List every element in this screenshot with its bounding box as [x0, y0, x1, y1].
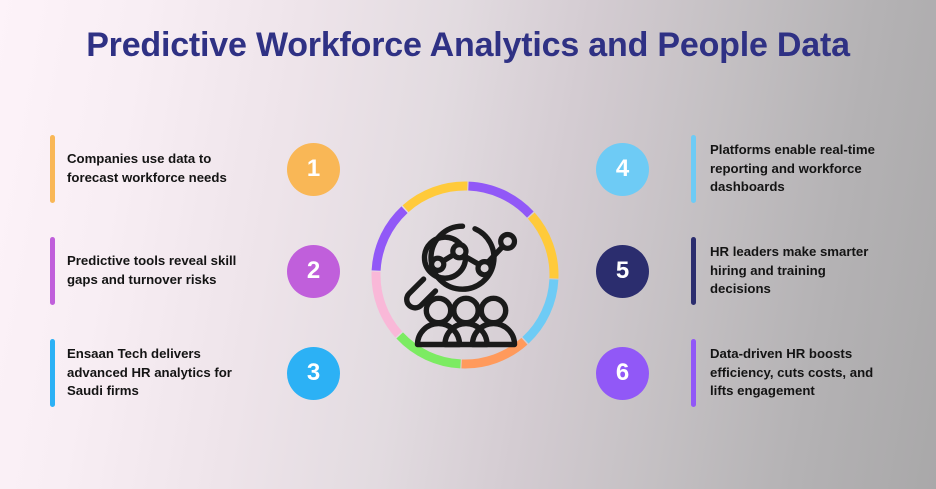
accent-bar-4	[691, 135, 696, 203]
list-item-label-1: Companies use data to forecast workforce…	[67, 150, 237, 187]
people-group-icon	[418, 298, 515, 344]
accent-bar-2	[50, 237, 55, 305]
number-badge-2[interactable]: 2	[287, 245, 340, 298]
right-items-column: 4 Platforms enable real-time reporting a…	[596, 130, 886, 412]
list-item-label-6: Data-driven HR boosts efficiency, cuts c…	[710, 345, 882, 401]
list-item-1[interactable]: Companies use data to forecast workforce…	[50, 130, 340, 208]
number-badge-5[interactable]: 5	[596, 245, 649, 298]
number-badge-3[interactable]: 3	[287, 347, 340, 400]
ring-segment-bottom-left	[399, 335, 462, 363]
analytics-ring-illustration	[367, 177, 563, 373]
left-items-column: Companies use data to forecast workforce…	[50, 130, 340, 412]
number-badge-6[interactable]: 6	[596, 347, 649, 400]
list-item-3[interactable]: Ensaan Tech delivers advanced HR analyti…	[50, 334, 340, 412]
person-body-right	[473, 324, 515, 345]
list-item-label-2: Predictive tools reveal skill gaps and t…	[67, 252, 237, 289]
number-badge-4[interactable]: 4	[596, 143, 649, 196]
accent-bar-5	[691, 237, 696, 305]
number-badge-1[interactable]: 1	[287, 143, 340, 196]
person-head-middle	[454, 298, 478, 322]
list-item-5[interactable]: 5 HR leaders make smarter hiring and tra…	[596, 232, 886, 310]
page-header: Predictive Workforce Analytics and Peopl…	[0, 26, 936, 65]
list-item-4[interactable]: 4 Platforms enable real-time reporting a…	[596, 130, 886, 208]
ring-segment-left-lower	[374, 272, 401, 335]
person-head-right	[481, 298, 505, 322]
ring-segment-right-upper	[529, 216, 556, 279]
page-title: Predictive Workforce Analytics and Peopl…	[0, 26, 936, 65]
trend-line	[440, 243, 507, 267]
accent-bar-1	[50, 135, 55, 203]
accent-bar-6	[691, 339, 696, 407]
center-graphic	[367, 177, 563, 373]
accent-bar-3	[50, 339, 55, 407]
person-head-left	[426, 298, 450, 322]
ring-segment-top-left	[406, 184, 468, 211]
list-item-6[interactable]: 6 Data-driven HR boosts efficiency, cuts…	[596, 334, 886, 412]
list-item-label-3: Ensaan Tech delivers advanced HR analyti…	[67, 345, 237, 401]
ring-segment-right-lower	[525, 278, 553, 341]
list-item-2[interactable]: Predictive tools reveal skill gaps and t…	[50, 232, 340, 310]
ring-segment-left-upper	[376, 209, 404, 272]
trend-nodes	[432, 235, 515, 275]
ring-segment-top-right	[467, 186, 531, 214]
list-item-label-4: Platforms enable real-time reporting and…	[710, 141, 882, 197]
list-item-label-5: HR leaders make smarter hiring and train…	[710, 243, 882, 299]
